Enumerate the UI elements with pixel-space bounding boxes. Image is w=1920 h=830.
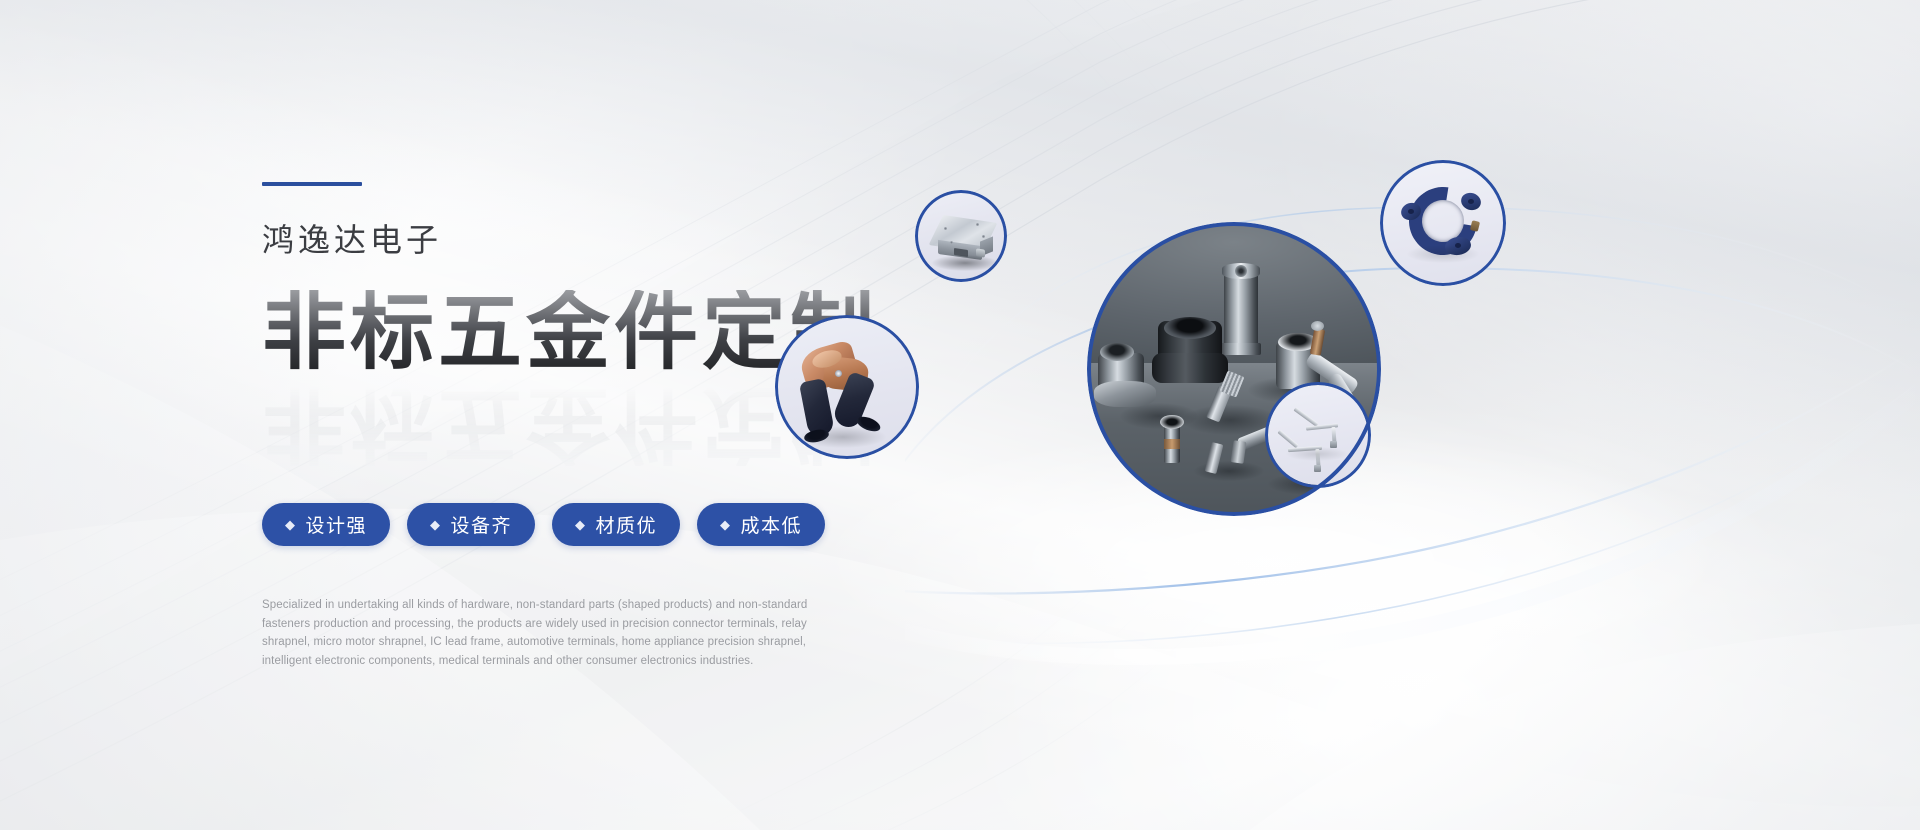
feature-tag-label: 设计强 (306, 511, 368, 538)
feature-tag-label: 成本低 (741, 511, 803, 538)
feature-tag-equipment[interactable]: ◆ 设备齐 (407, 503, 535, 546)
feature-tag-cost[interactable]: ◆ 成本低 (697, 503, 825, 546)
stamped-metal-enclosure-photo (918, 193, 1004, 279)
product-bubble-bent-pins[interactable] (1265, 382, 1371, 488)
hero-banner: 鸿逸达电子 非标五金件定制 非标五金件定制 ◆ 设计强 ◆ 设备齐 ◆ 材质优 … (0, 0, 1920, 830)
feature-tag-material[interactable]: ◆ 材质优 (552, 503, 680, 546)
diamond-icon: ◆ (720, 518, 732, 531)
feature-tag-label: 材质优 (596, 511, 658, 538)
hero-description: Specialized in undertaking all kinds of … (262, 596, 830, 671)
product-bubble-enclosure[interactable] (915, 190, 1007, 282)
feature-tag-design[interactable]: ◆ 设计强 (262, 503, 390, 546)
retaining-clip-photo (1383, 163, 1503, 283)
bent-metal-pins-photo (1268, 385, 1368, 485)
diamond-icon: ◆ (285, 518, 297, 531)
feature-tag-label: 设备齐 (451, 511, 513, 538)
feature-tag-list: ◆ 设计强 ◆ 设备齐 ◆ 材质优 ◆ 成本低 (262, 503, 962, 546)
diamond-icon: ◆ (430, 518, 442, 531)
product-bubble-retaining-clip[interactable] (1380, 160, 1506, 286)
product-bubble-battery-clamp[interactable] (775, 315, 919, 459)
accent-bar (262, 182, 362, 186)
battery-clamp-photo (778, 318, 916, 456)
diamond-icon: ◆ (575, 518, 587, 531)
product-composition (905, 120, 1915, 680)
brand-name: 鸿逸达电子 (262, 224, 962, 256)
